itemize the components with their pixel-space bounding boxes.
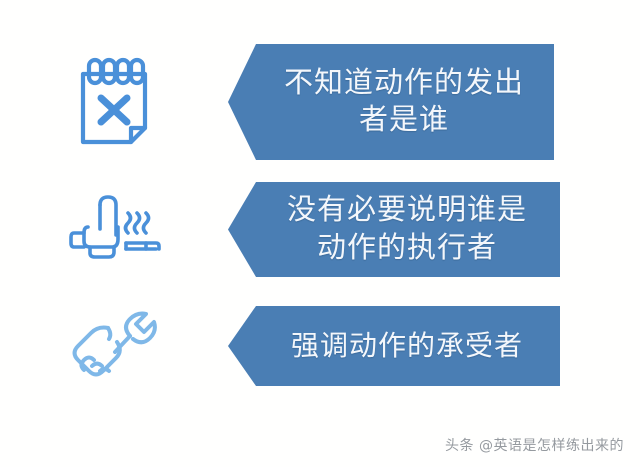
info-banner-3: 强调动作的承受者: [228, 306, 560, 386]
info-banner-3-label: 强调动作的承受者: [257, 328, 531, 364]
info-banner-2: 没有必要说明谁是 动作的执行者: [228, 182, 560, 277]
watermark: 头条 @英语是怎样练出来的: [445, 435, 624, 455]
info-row-1: 不知道动作的发出 者是谁: [0, 44, 640, 160]
info-banner-1-label: 不知道动作的发出 者是谁: [250, 65, 532, 139]
notepad-x-icon: [0, 44, 228, 160]
hand-wrench-icon: [0, 306, 228, 386]
info-banner-1: 不知道动作的发出 者是谁: [228, 44, 554, 160]
smoking-hand-icon: [0, 182, 228, 277]
info-row-2: 没有必要说明谁是 动作的执行者: [0, 182, 640, 277]
infographic-slide: 不知道动作的发出 者是谁 没有: [0, 0, 640, 467]
info-banner-2-label: 没有必要说明谁是 动作的执行者: [253, 192, 535, 266]
info-row-3: 强调动作的承受者: [0, 306, 640, 386]
